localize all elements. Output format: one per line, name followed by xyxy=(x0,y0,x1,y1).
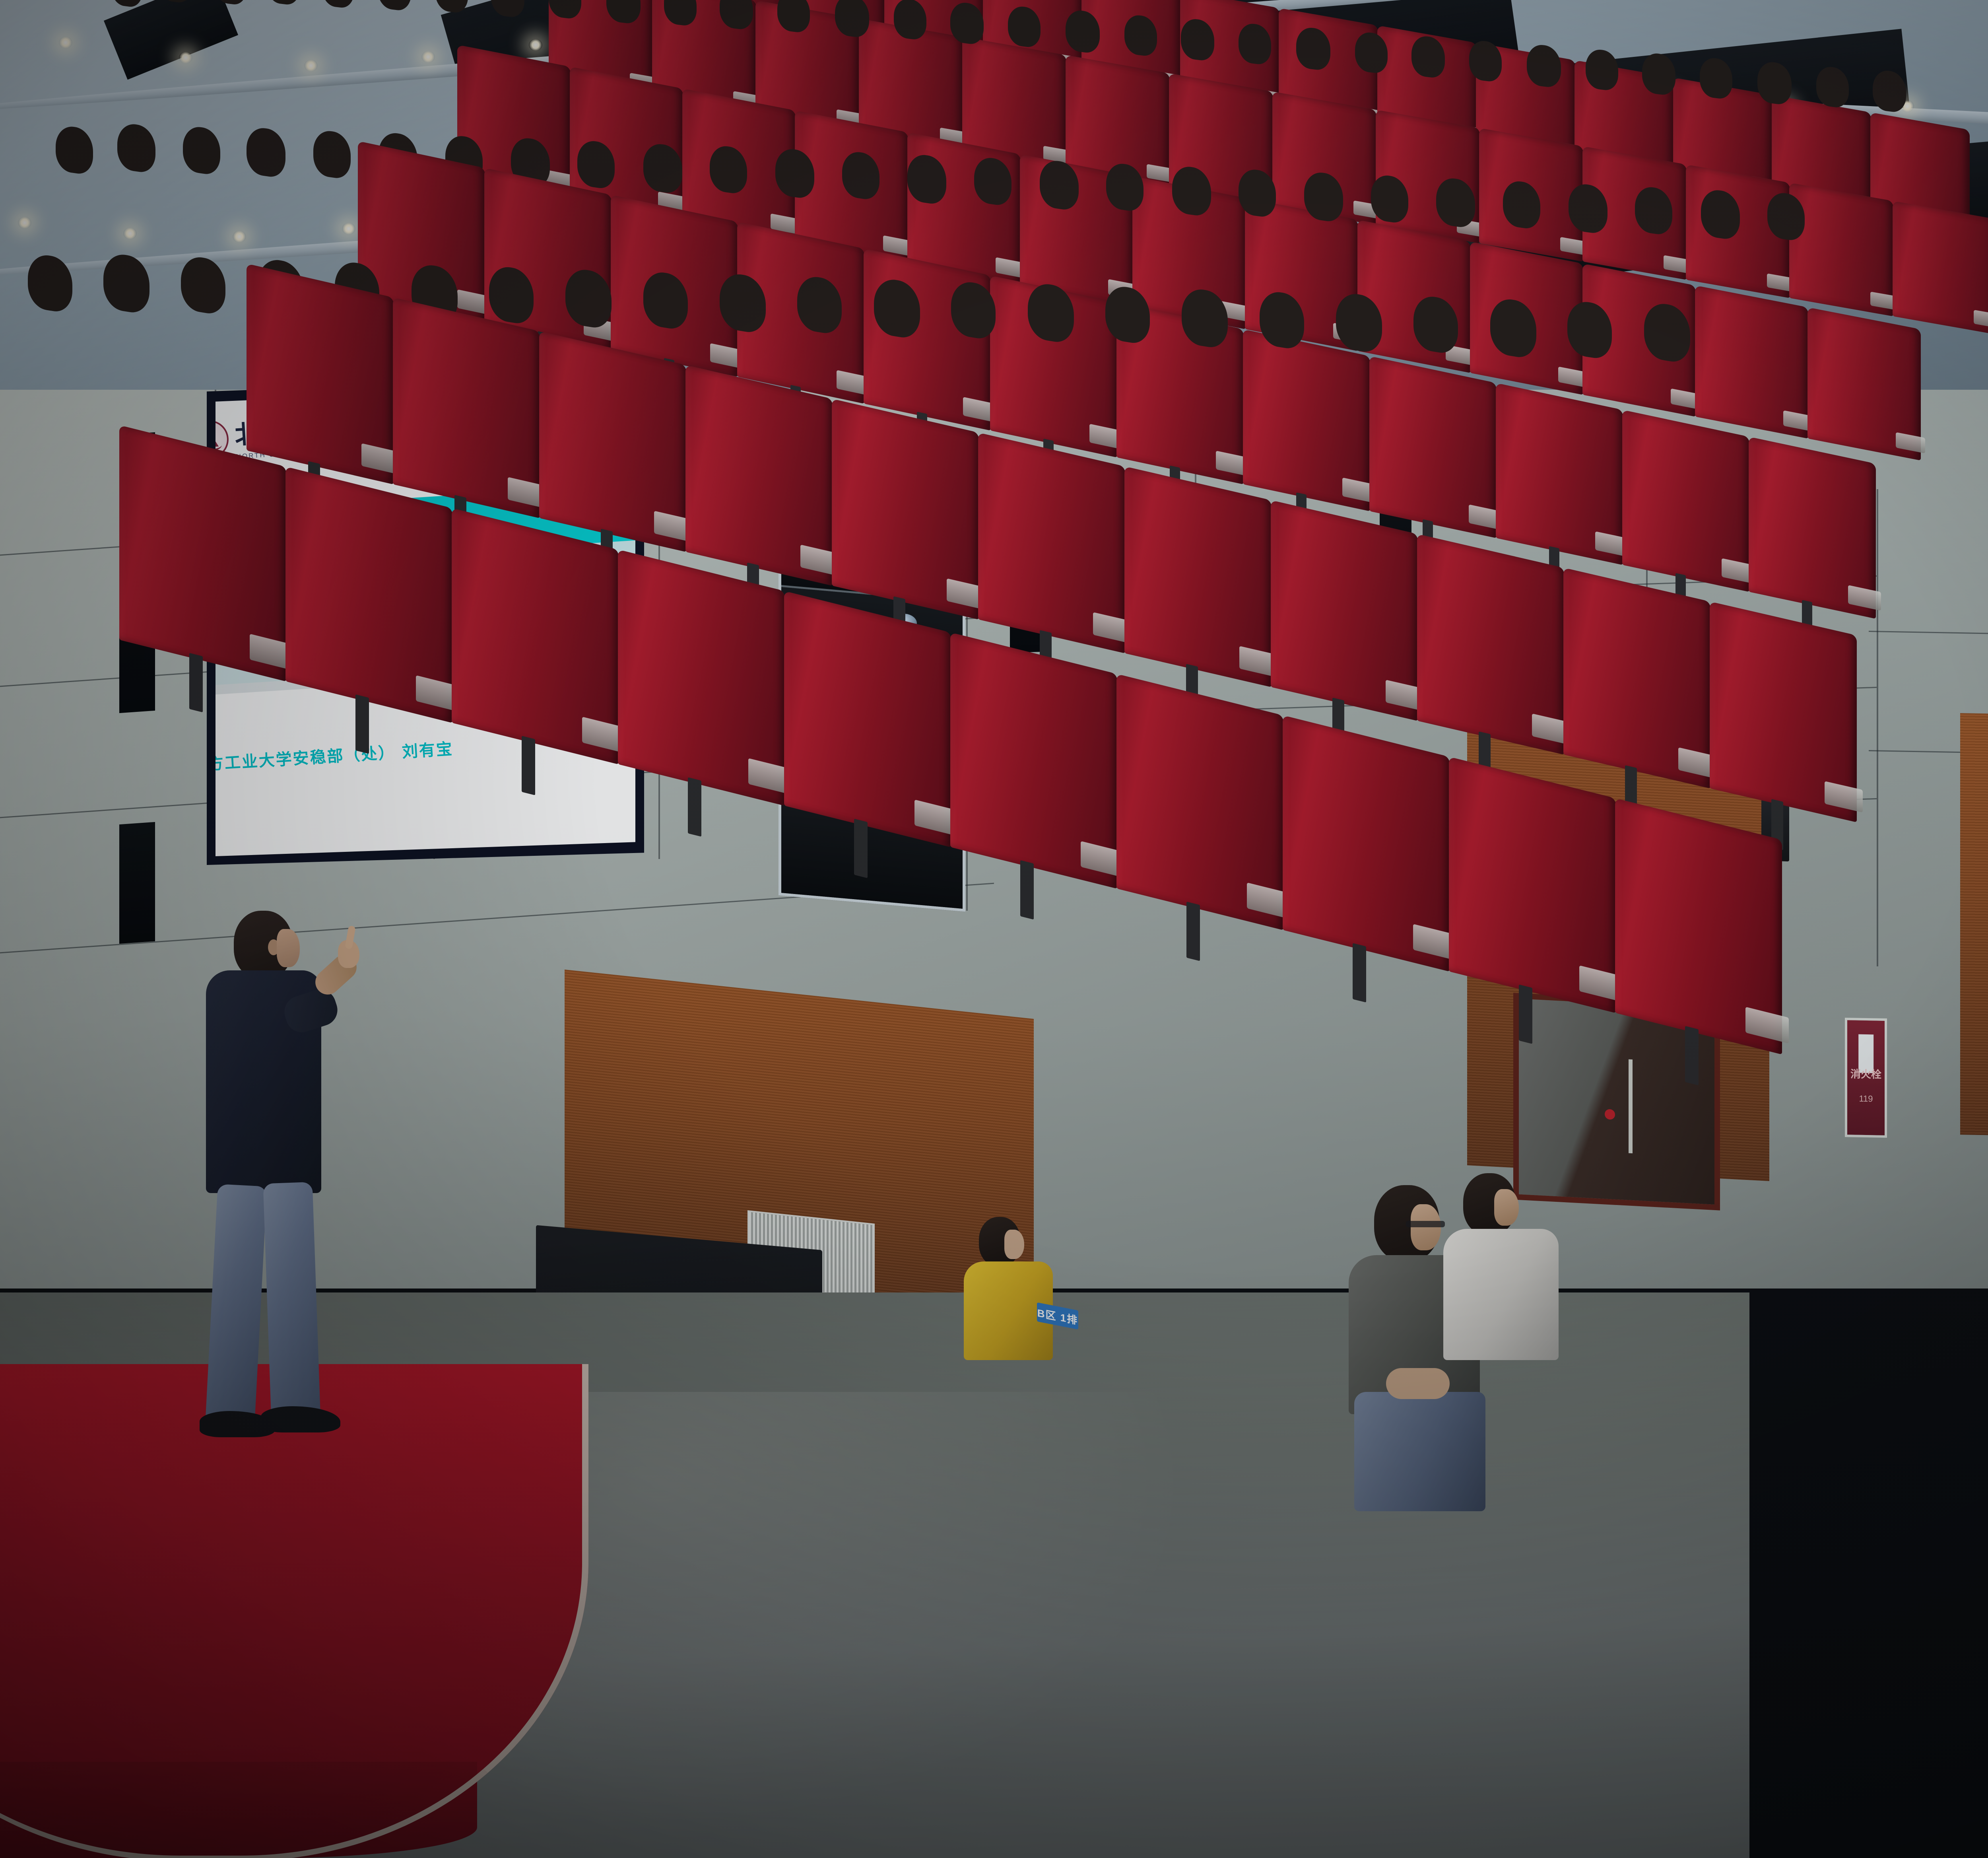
audience-member-yellow-shirt xyxy=(961,1217,1057,1384)
auditorium-photo: 安全出口 EXIT 消火栓 119 北方工业大学 NORTH CHINA UNI… xyxy=(0,0,1988,1858)
fire-hydrant-cabinet[interactable]: 消火栓 119 xyxy=(1845,1018,1887,1138)
audience-member-white-shirt xyxy=(1439,1173,1571,1396)
wall-acoustic-slot xyxy=(119,822,155,944)
presenter xyxy=(186,911,353,1479)
hydrant-number: 119 xyxy=(1847,1093,1885,1104)
wood-wall-panel xyxy=(1960,713,1988,1140)
presenter-shoe xyxy=(261,1406,340,1432)
presenter-legs xyxy=(212,1185,323,1432)
hydrant-label: 消火栓 xyxy=(1847,1066,1885,1081)
presenter-face xyxy=(277,929,300,967)
